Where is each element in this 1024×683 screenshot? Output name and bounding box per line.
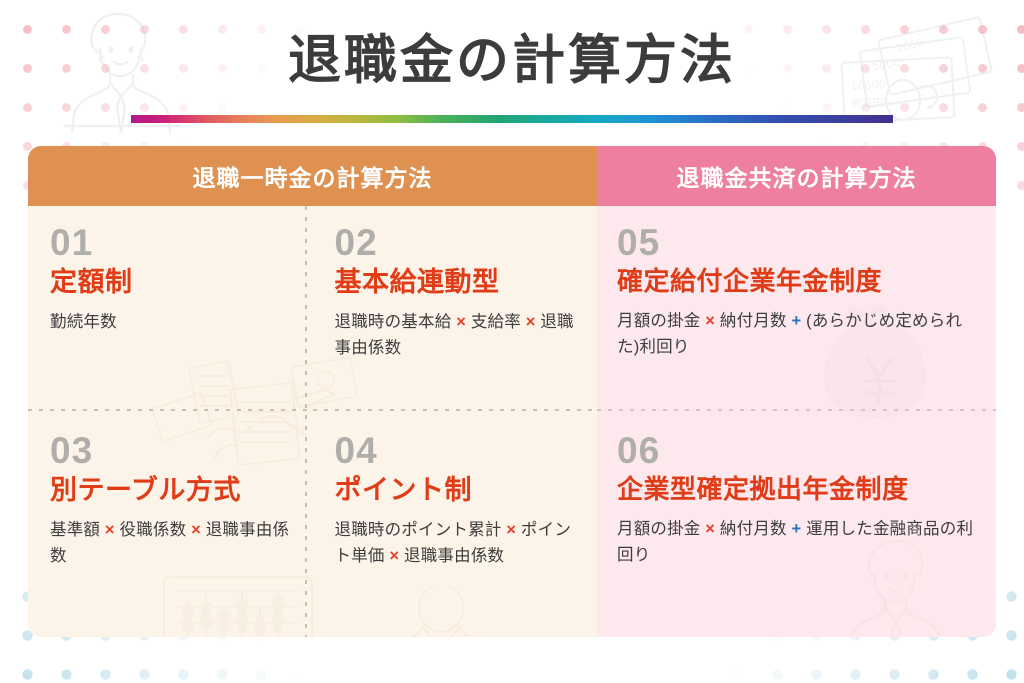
multiply-operator: ×: [526, 313, 536, 331]
lump-sum-section: 01 定額制 勤続年数 03 別テーブル方式 基準額 × 役職係数 × 退職事由…: [28, 206, 597, 637]
method-cell-05: 05 確定給付企業年金制度 月額の掛金 × 納付月数 + (あらかじめ定められた…: [597, 206, 996, 409]
method-formula: 月額の掛金 × 納付月数 + 運用した金融商品の利回り: [617, 516, 980, 568]
cell-divider-horizontal: [597, 409, 996, 411]
multiply-operator: ×: [705, 312, 715, 330]
cell-divider-vertical: [305, 206, 307, 637]
subcolumn-left: 01 定額制 勤続年数 03 別テーブル方式 基準額 × 役職係数 × 退職事由…: [28, 206, 313, 637]
cell-divider-horizontal: [28, 409, 313, 411]
table-header-lump-sum-label: 退職一時金の計算方法: [193, 159, 433, 193]
table-header-row: 退職一時金の計算方法 退職金共済の計算方法: [28, 146, 996, 206]
calculation-methods-table: 退職一時金の計算方法 退職金共済の計算方法: [28, 146, 996, 637]
method-formula: 月額の掛金 × 納付月数 + (あらかじめ定められた)利回り: [617, 308, 980, 360]
method-number: 05: [617, 224, 980, 261]
subcolumn-middle: 02 基本給連動型 退職時の基本給 × 支給率 × 退職事由係数 04 ポイント…: [313, 206, 598, 637]
formula-text: 退職時のポイント累計: [335, 521, 507, 539]
formula-text: 納付月数: [715, 520, 791, 538]
multiply-operator: ×: [705, 520, 715, 538]
method-title: 企業型確定拠出年金制度: [617, 475, 980, 505]
formula-text: 支給率: [466, 313, 526, 331]
method-title: 定額制: [50, 267, 297, 298]
multiply-operator: ×: [456, 313, 466, 331]
page-title: 退職金の計算方法: [0, 32, 1024, 90]
cell-divider-horizontal: [313, 409, 598, 411]
method-formula: 勤続年数: [50, 309, 297, 335]
svg-text:壱万円: 壱万円: [850, 95, 884, 111]
table-body: 01 定額制 勤続年数 03 別テーブル方式 基準額 × 役職係数 × 退職事由…: [28, 206, 996, 637]
method-number: 06: [617, 432, 980, 469]
method-number: 03: [50, 432, 297, 469]
table-header-mutual-aid: 退職金共済の計算方法: [597, 146, 996, 206]
method-title: 確定給付企業年金制度: [617, 267, 980, 297]
method-number: 02: [335, 224, 582, 261]
rainbow-divider: [131, 115, 893, 123]
table-header-lump-sum: 退職一時金の計算方法: [28, 146, 597, 206]
plus-operator: +: [792, 520, 802, 538]
multiply-operator: ×: [506, 521, 516, 539]
method-cell-01: 01 定額制 勤続年数: [28, 206, 313, 409]
formula-text: 役職係数: [115, 521, 191, 539]
formula-text: 退職事由係数: [399, 547, 504, 565]
method-title: 基本給連動型: [335, 267, 582, 298]
formula-text: 退職時の基本給: [335, 313, 457, 331]
mutual-aid-section: 05 確定給付企業年金制度 月額の掛金 × 納付月数 + (あらかじめ定められた…: [597, 206, 996, 637]
method-cell-06: 06 企業型確定拠出年金制度 月額の掛金 × 納付月数 + 運用した金融商品の利…: [597, 414, 996, 617]
table-header-mutual-aid-label: 退職金共済の計算方法: [677, 159, 917, 193]
multiply-operator: ×: [389, 547, 399, 565]
multiply-operator: ×: [105, 521, 115, 539]
formula-text: 基準額: [50, 521, 105, 539]
formula-text: 勤続年数: [50, 313, 117, 331]
formula-text: 月額の掛金: [617, 520, 705, 538]
method-cell-02: 02 基本給連動型 退職時の基本給 × 支給率 × 退職事由係数: [313, 206, 598, 409]
formula-text: 納付月数: [715, 312, 791, 330]
formula-text: 月額の掛金: [617, 312, 705, 330]
method-title: ポイント制: [335, 475, 582, 506]
method-cell-03: 03 別テーブル方式 基準額 × 役職係数 × 退職事由係数: [28, 414, 313, 617]
method-number: 04: [335, 432, 582, 469]
multiply-operator: ×: [191, 521, 201, 539]
method-formula: 退職時のポイント累計 × ポイント単価 × 退職事由係数: [335, 517, 582, 569]
method-formula: 基準額 × 役職係数 × 退職事由係数: [50, 517, 297, 569]
plus-operator: +: [792, 312, 802, 330]
method-title: 別テーブル方式: [50, 475, 297, 506]
method-number: 01: [50, 224, 297, 261]
method-cell-04: 04 ポイント制 退職時のポイント累計 × ポイント単価 × 退職事由係数: [313, 414, 598, 617]
method-formula: 退職時の基本給 × 支給率 × 退職事由係数: [335, 309, 582, 361]
